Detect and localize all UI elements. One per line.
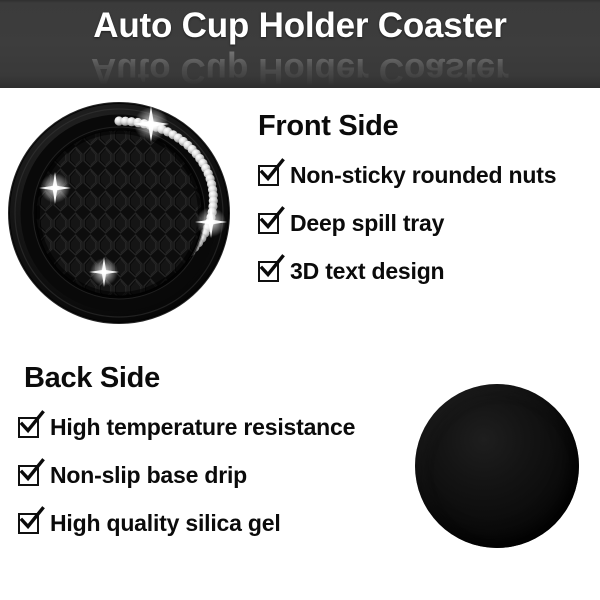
list-item-label: High temperature resistance [50,414,355,440]
list-item: Non-sticky rounded nuts [258,158,556,192]
list-item-label: Non-slip base drip [50,462,247,488]
front-side-heading: Front Side [258,110,398,143]
list-item: 3D text design [258,254,556,288]
list-item: Deep spill tray [258,206,556,240]
coaster-back-image [415,384,579,548]
checkbox-checked-icon [258,261,279,282]
list-item: High temperature resistance [18,410,355,444]
list-item-label: High quality silica gel [50,510,281,536]
list-item-label: Non-sticky rounded nuts [290,162,556,188]
page-title-reflection: Auto Cup Holder Coaster [0,48,600,88]
header-banner: Auto Cup Holder Coaster Auto Cup Holder … [0,0,600,88]
back-feature-list: High temperature resistance Non-slip bas… [18,410,355,554]
checkbox-checked-icon [258,213,279,234]
checkbox-checked-icon [18,513,39,534]
list-item-label: Deep spill tray [290,210,444,236]
list-item: Non-slip base drip [18,458,355,492]
back-side-heading: Back Side [24,362,160,395]
product-infographic: Auto Cup Holder Coaster Auto Cup Holder … [0,0,600,600]
coaster-front-image [8,102,230,324]
list-item-label: 3D text design [290,258,444,284]
page-title: Auto Cup Holder Coaster [0,4,600,48]
list-item: High quality silica gel [18,506,355,540]
checkbox-checked-icon [18,417,39,438]
checkbox-checked-icon [18,465,39,486]
front-feature-list: Non-sticky rounded nuts Deep spill tray … [258,158,556,302]
checkbox-checked-icon [258,165,279,186]
